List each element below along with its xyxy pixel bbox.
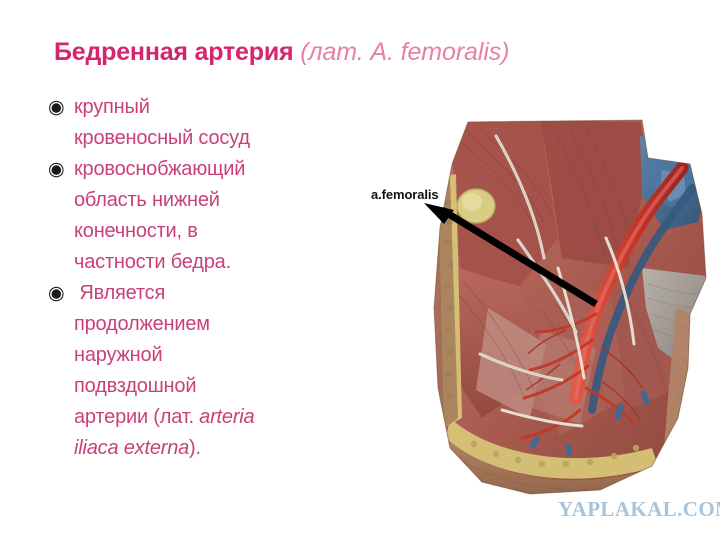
title-latin-text: (лат. A. femoralis)	[293, 38, 509, 66]
bullet-dot-icon: ◉	[46, 154, 74, 185]
list-item: ◉ кровоснобжающий область нижней конечно…	[46, 154, 366, 278]
list-item-text-after: ).	[189, 437, 201, 459]
list-item-text: крупный кровеносный сосуд	[74, 92, 366, 154]
list-item-text-before: Является продолжением наружной подвздошн…	[74, 282, 210, 428]
title-main-text: Бедренная артерия	[54, 38, 293, 66]
slide-canvas: Бедренная артерия (лат. A. femoralis) ◉ …	[0, 0, 720, 540]
bullet-dot-icon: ◉	[46, 92, 74, 123]
list-item: ◉ Является продолжением наружной подвздо…	[46, 278, 366, 464]
anatomy-svg	[390, 118, 720, 518]
list-item-text: Является продолжением наружной подвздошн…	[74, 278, 366, 464]
thigh-body	[430, 118, 720, 518]
bullet-dot-icon: ◉	[46, 278, 74, 309]
watermark: YAPLAKAL.COM	[558, 497, 720, 522]
anatomy-illustration	[390, 118, 720, 518]
bullet-list: ◉ крупный кровеносный сосуд ◉ кровоснобж…	[46, 92, 366, 464]
list-item-text: кровоснобжающий область нижней конечност…	[74, 154, 366, 278]
page-title: Бедренная артерия (лат. A. femoralis)	[54, 38, 684, 74]
artery-label: a.femoralis	[368, 186, 442, 203]
list-item: ◉ крупный кровеносный сосуд	[46, 92, 366, 154]
